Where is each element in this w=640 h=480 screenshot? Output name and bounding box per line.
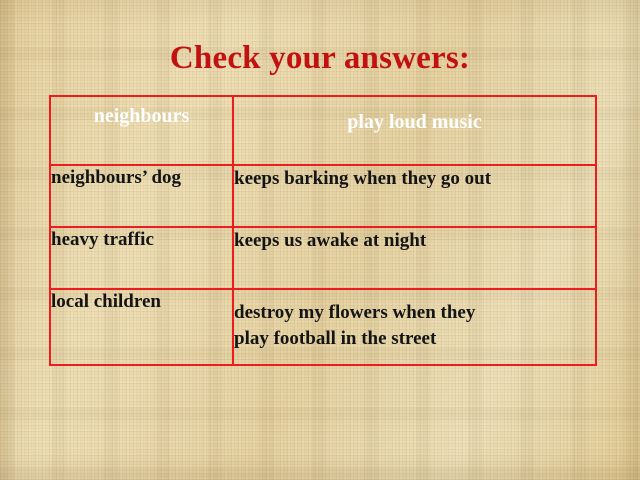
cell-subject: neighbours’ dog — [50, 165, 233, 227]
table-row: neighbours’ dog keeps barking when they … — [50, 165, 596, 227]
cell-predicate: keeps us awake at night — [233, 227, 596, 289]
cell-predicate: destroy my flowers when they play footba… — [233, 289, 596, 365]
slide-canvas: Check your answers: neighbours play loud… — [0, 0, 640, 480]
predicate-line: keeps barking when they go out — [234, 166, 595, 192]
answers-table: neighbours play loud music neighbours’ d… — [49, 95, 597, 366]
header-label-subject: neighbours — [51, 97, 232, 128]
table-row: local children destroy my flowers when t… — [50, 289, 596, 365]
predicate-line: destroy my flowers when they — [234, 300, 595, 326]
predicate-line: play football in the street — [234, 326, 595, 352]
page-title: Check your answers: — [0, 38, 640, 78]
cell-predicate: keeps barking when they go out — [233, 165, 596, 227]
predicate-line: keeps us awake at night — [234, 228, 595, 254]
header-cell-subject: neighbours — [50, 96, 233, 165]
table-header-row: neighbours play loud music — [50, 96, 596, 165]
header-label-predicate: play loud music — [234, 97, 595, 134]
table-row: heavy traffic keeps us awake at night — [50, 227, 596, 289]
cell-subject: heavy traffic — [50, 227, 233, 289]
cell-subject: local children — [50, 289, 233, 365]
header-cell-predicate: play loud music — [233, 96, 596, 165]
